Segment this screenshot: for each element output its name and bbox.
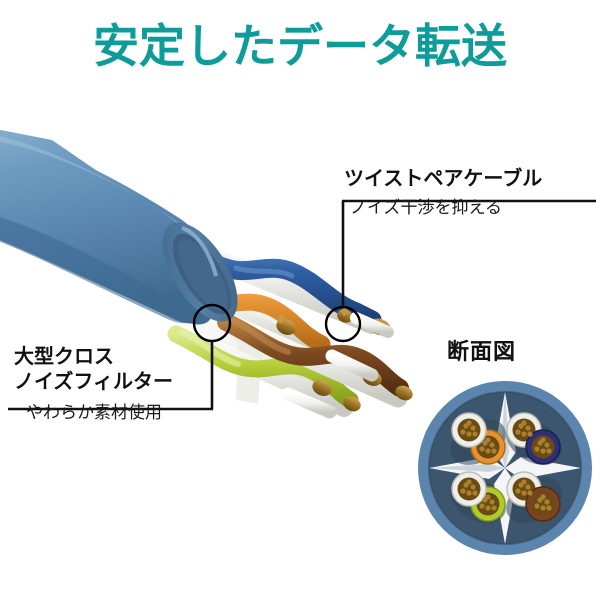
callout-twist-pair-cable: ツイストペアケーブル ノイズ干渉を抑える [344, 166, 596, 219]
cs-pair-blue [498, 410, 570, 475]
callout-heading-filter-line2: ノイズフィルター [14, 369, 219, 394]
cross-separator [429, 392, 581, 544]
jacket-cut-rim [147, 210, 252, 334]
cable-bore [129, 213, 248, 351]
cross-section-inner [429, 392, 581, 544]
pair-blue [150, 228, 393, 339]
marker-conductor [326, 307, 360, 341]
wire-tails [288, 318, 388, 412]
cs-pair-green [442, 468, 514, 533]
marker-cross-filler [194, 305, 230, 341]
cross-section-caption: 断面図 [447, 334, 516, 366]
illustration-root: 安定したデータ転送 ツイストペアケーブル ノイズ干渉を抑える 大型クロス ノイズ… [0, 0, 600, 600]
cable-jacket [0, 128, 253, 334]
cs-pair-brown [498, 468, 570, 533]
callout-large-cross-noise-filter: 大型クロス ノイズフィルター やわらか素材使用 [14, 344, 219, 424]
cross-section-outer-ring [418, 381, 592, 555]
pair-brown [222, 320, 415, 403]
pair-orange [128, 266, 322, 352]
callout-heading-filter-line1: 大型クロス [14, 344, 219, 369]
cs-pair-orange [442, 410, 514, 475]
callout-subtext-twist-pair: ノイズ干渉を抑える [344, 197, 596, 219]
page-title: 安定したデータ転送 [0, 18, 600, 74]
callout-subtext-filter: やわらか素材使用 [14, 402, 219, 424]
cross-section-diagram [418, 381, 592, 555]
callout-heading-twist-pair: ツイストペアケーブル [344, 166, 596, 191]
cable-illustration [0, 0, 600, 600]
